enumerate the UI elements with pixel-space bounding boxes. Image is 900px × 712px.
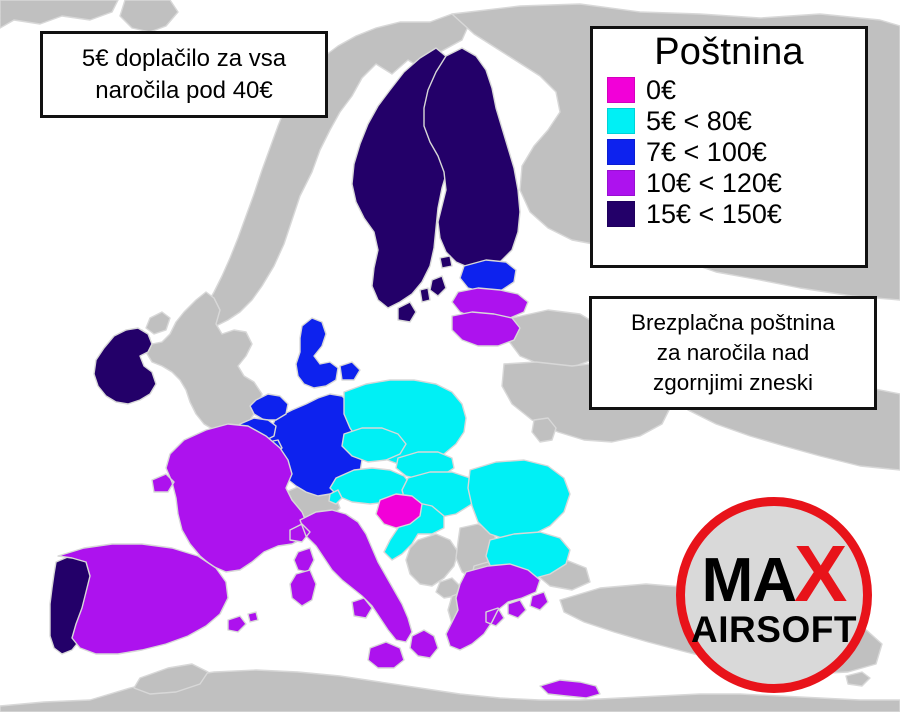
- legend-label-7eur: 7€ < 100€: [646, 139, 767, 166]
- legend-label-10eur: 10€ < 120€: [646, 170, 782, 197]
- legend-label-5eur: 5€ < 80€: [646, 108, 752, 135]
- legend-row-free: 0€: [607, 75, 865, 106]
- logo-wordmark-accent: X: [794, 542, 846, 606]
- note-surcharge-line2: naročila pod 40€: [95, 75, 272, 107]
- legend-swatch-5eur: [607, 108, 635, 134]
- note-surcharge-line1: 5€ doplačilo za vsa: [82, 43, 286, 75]
- legend-items: 0€ 5€ < 80€ 7€ < 100€ 10€ < 120€ 15€ < 1…: [593, 75, 865, 230]
- note-surcharge: 5€ doplačilo za vsa naročila pod 40€: [40, 31, 328, 118]
- legend-swatch-7eur: [607, 139, 635, 165]
- logo-subtitle: AIRSOFT: [691, 611, 857, 648]
- legend-row-10eur: 10€ < 120€: [607, 168, 865, 199]
- island-aland: [440, 256, 452, 268]
- legend-label-free: 0€: [646, 77, 676, 104]
- legend-swatch-15eur: [607, 201, 635, 227]
- note-free-shipping-line3: zgornjimi zneski: [653, 368, 813, 398]
- max-airsoft-logo: MAX AIRSOFT: [676, 497, 872, 693]
- legend-swatch-free: [607, 77, 635, 103]
- island-oland: [420, 288, 430, 302]
- map-canvas: .land{stroke:#d8d8d8;stroke-width:1.4;st…: [0, 0, 900, 712]
- legend-row-7eur: 7€ < 100€: [607, 137, 865, 168]
- legend-swatch-10eur: [607, 170, 635, 196]
- legend-title: Poštnina: [593, 33, 865, 73]
- legend-row-15eur: 15€ < 150€: [607, 199, 865, 230]
- legend-panel: Poštnina 0€ 5€ < 80€ 7€ < 100€ 10€ < 120…: [590, 26, 868, 268]
- logo-wordmark: MAX: [702, 542, 847, 609]
- legend-label-15eur: 15€ < 150€: [646, 201, 782, 228]
- legend-row-5eur: 5€ < 80€: [607, 106, 865, 137]
- note-free-shipping: Brezplačna poštnina za naročila nad zgor…: [589, 296, 877, 410]
- logo-wordmark-prefix: MA: [702, 552, 796, 609]
- note-free-shipping-line2: za naročila nad: [657, 338, 810, 368]
- note-free-shipping-line1: Brezplačna poštnina: [631, 308, 835, 338]
